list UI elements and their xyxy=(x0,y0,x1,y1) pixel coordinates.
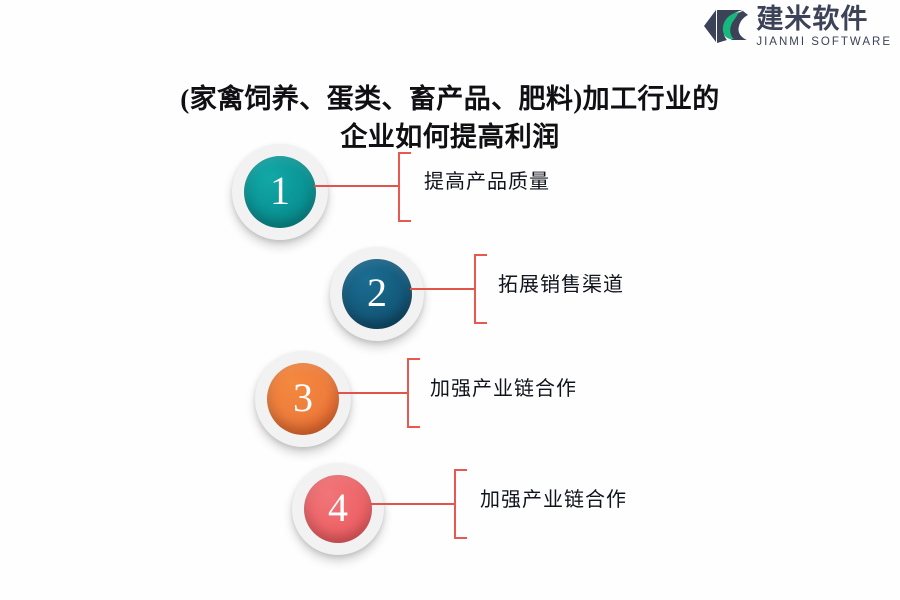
step-bubble-2[interactable]: 2 xyxy=(330,247,424,341)
step-bracket-3 xyxy=(407,358,420,428)
step-connector-1 xyxy=(314,185,400,187)
step-connector-2 xyxy=(410,288,476,290)
step-bracket-2 xyxy=(474,254,487,324)
step-bracket-1 xyxy=(398,152,411,222)
step-number-3: 3 xyxy=(293,378,313,418)
step-label-2: 拓展销售渠道 xyxy=(498,275,624,295)
step-bubble-4[interactable]: 4 xyxy=(292,463,384,555)
step-number-2: 2 xyxy=(367,273,387,313)
step-bubble-fill-1: 1 xyxy=(244,156,316,228)
step-number-4: 4 xyxy=(328,488,348,528)
infographic-canvas: 建米软件 JIANMI SOFTWARE (家禽饲养、蛋类、畜产品、肥料)加工行… xyxy=(0,0,900,600)
step-bubble-3[interactable]: 3 xyxy=(255,351,351,447)
step-bubble-fill-3: 3 xyxy=(267,363,339,435)
step-number-1: 1 xyxy=(270,171,290,211)
step-label-4: 加强产业链合作 xyxy=(480,490,627,510)
step-label-3: 加强产业链合作 xyxy=(430,379,577,399)
step-bracket-4 xyxy=(454,469,467,539)
step-bubble-fill-4: 4 xyxy=(304,475,372,543)
steps-list: 1 提高产品质量 2 拓展销售渠道 3 xyxy=(0,0,900,600)
step-bubble-fill-2: 2 xyxy=(342,259,412,329)
step-connector-3 xyxy=(337,392,409,394)
step-connector-4 xyxy=(370,503,456,505)
step-bubble-1[interactable]: 1 xyxy=(232,144,328,240)
step-label-1: 提高产品质量 xyxy=(424,172,550,192)
